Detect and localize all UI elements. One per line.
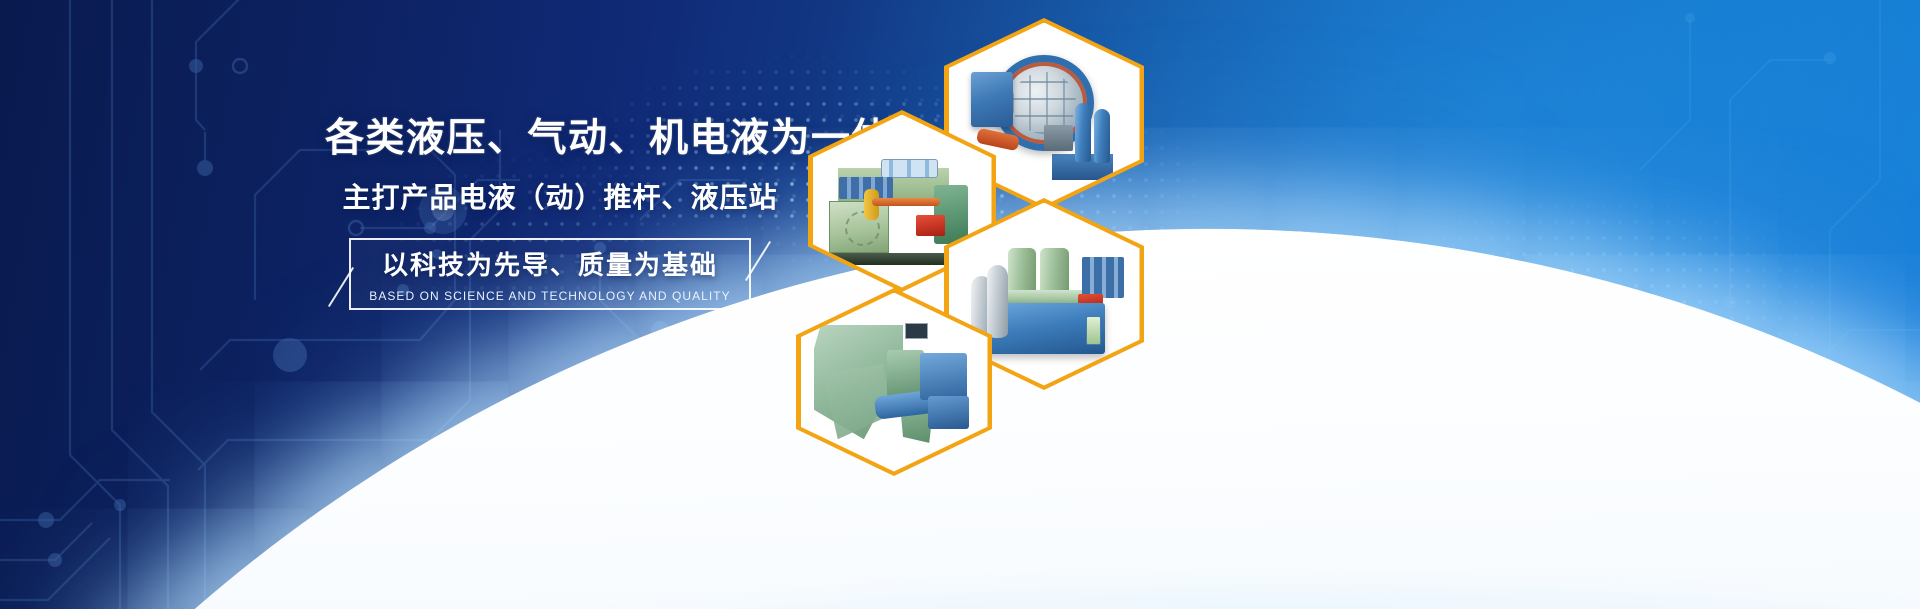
- slogan-chinese: 以科技为先导、质量为基础: [382, 245, 718, 282]
- hero-banner: 各类液压、气动、机电液为一体 主打产品电液（动）推杆、液压站 以科技为先导、质量…: [0, 0, 1920, 609]
- slogan-english: BASED ON SCIENCE AND TECHNOLOGY AND QUAL…: [369, 289, 730, 303]
- banner-headline: 各类液压、气动、机电液为一体: [325, 118, 795, 160]
- banner-subheadline: 主打产品电液（动）推杆、液压站: [325, 176, 795, 216]
- slogan-box: 以科技为先导、质量为基础 BASED ON SCIENCE AND TECHNO…: [349, 238, 751, 310]
- slogan-block: 以科技为先导、质量为基础 BASED ON SCIENCE AND TECHNO…: [325, 238, 795, 310]
- product-hexagon-gallery: [786, 0, 1166, 609]
- banner-copy: 各类液压、气动、机电液为一体 主打产品电液（动）推杆、液压站 以科技为先导、质量…: [325, 118, 795, 310]
